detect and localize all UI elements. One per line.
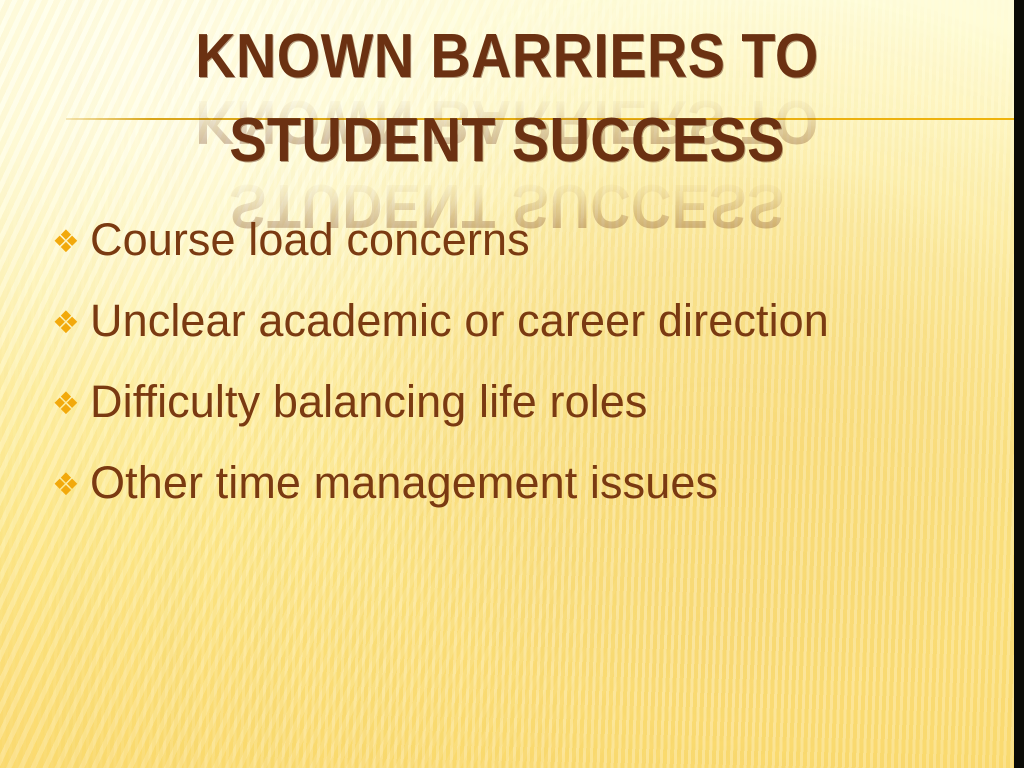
bullet-item-label: Difficulty balancing life roles — [90, 376, 1002, 428]
diamond-cluster-bullet-icon: ❖ — [52, 227, 90, 258]
list-item: ❖ Other time management issues — [52, 457, 1002, 538]
list-item: ❖ Difficulty balancing life roles — [52, 376, 1002, 457]
bullet-item-label: Unclear academic or career direction — [90, 295, 1002, 347]
diamond-cluster-bullet-icon: ❖ — [52, 470, 90, 501]
slide-right-edge-border — [1014, 0, 1024, 768]
bullet-item-label: Other time management issues — [90, 457, 1002, 509]
bullet-list: ❖ Course load concerns ❖ Unclear academi… — [52, 214, 1002, 538]
list-item: ❖ Unclear academic or career direction — [52, 295, 1002, 376]
slide-title-line-1: KNOWN BARRIERS TO — [51, 26, 964, 88]
slide-title-line-2: STUDENT SUCCESS — [51, 110, 964, 172]
diamond-cluster-bullet-icon: ❖ — [52, 389, 90, 420]
bullet-item-label: Course load concerns — [90, 214, 1002, 266]
slide-title-block: KNOWN BARRIERS TO STUDENT SUCCESS KNOWN … — [0, 0, 1014, 205]
slide: KNOWN BARRIERS TO STUDENT SUCCESS KNOWN … — [0, 0, 1024, 768]
list-item: ❖ Course load concerns — [52, 214, 1002, 295]
diamond-cluster-bullet-icon: ❖ — [52, 308, 90, 339]
